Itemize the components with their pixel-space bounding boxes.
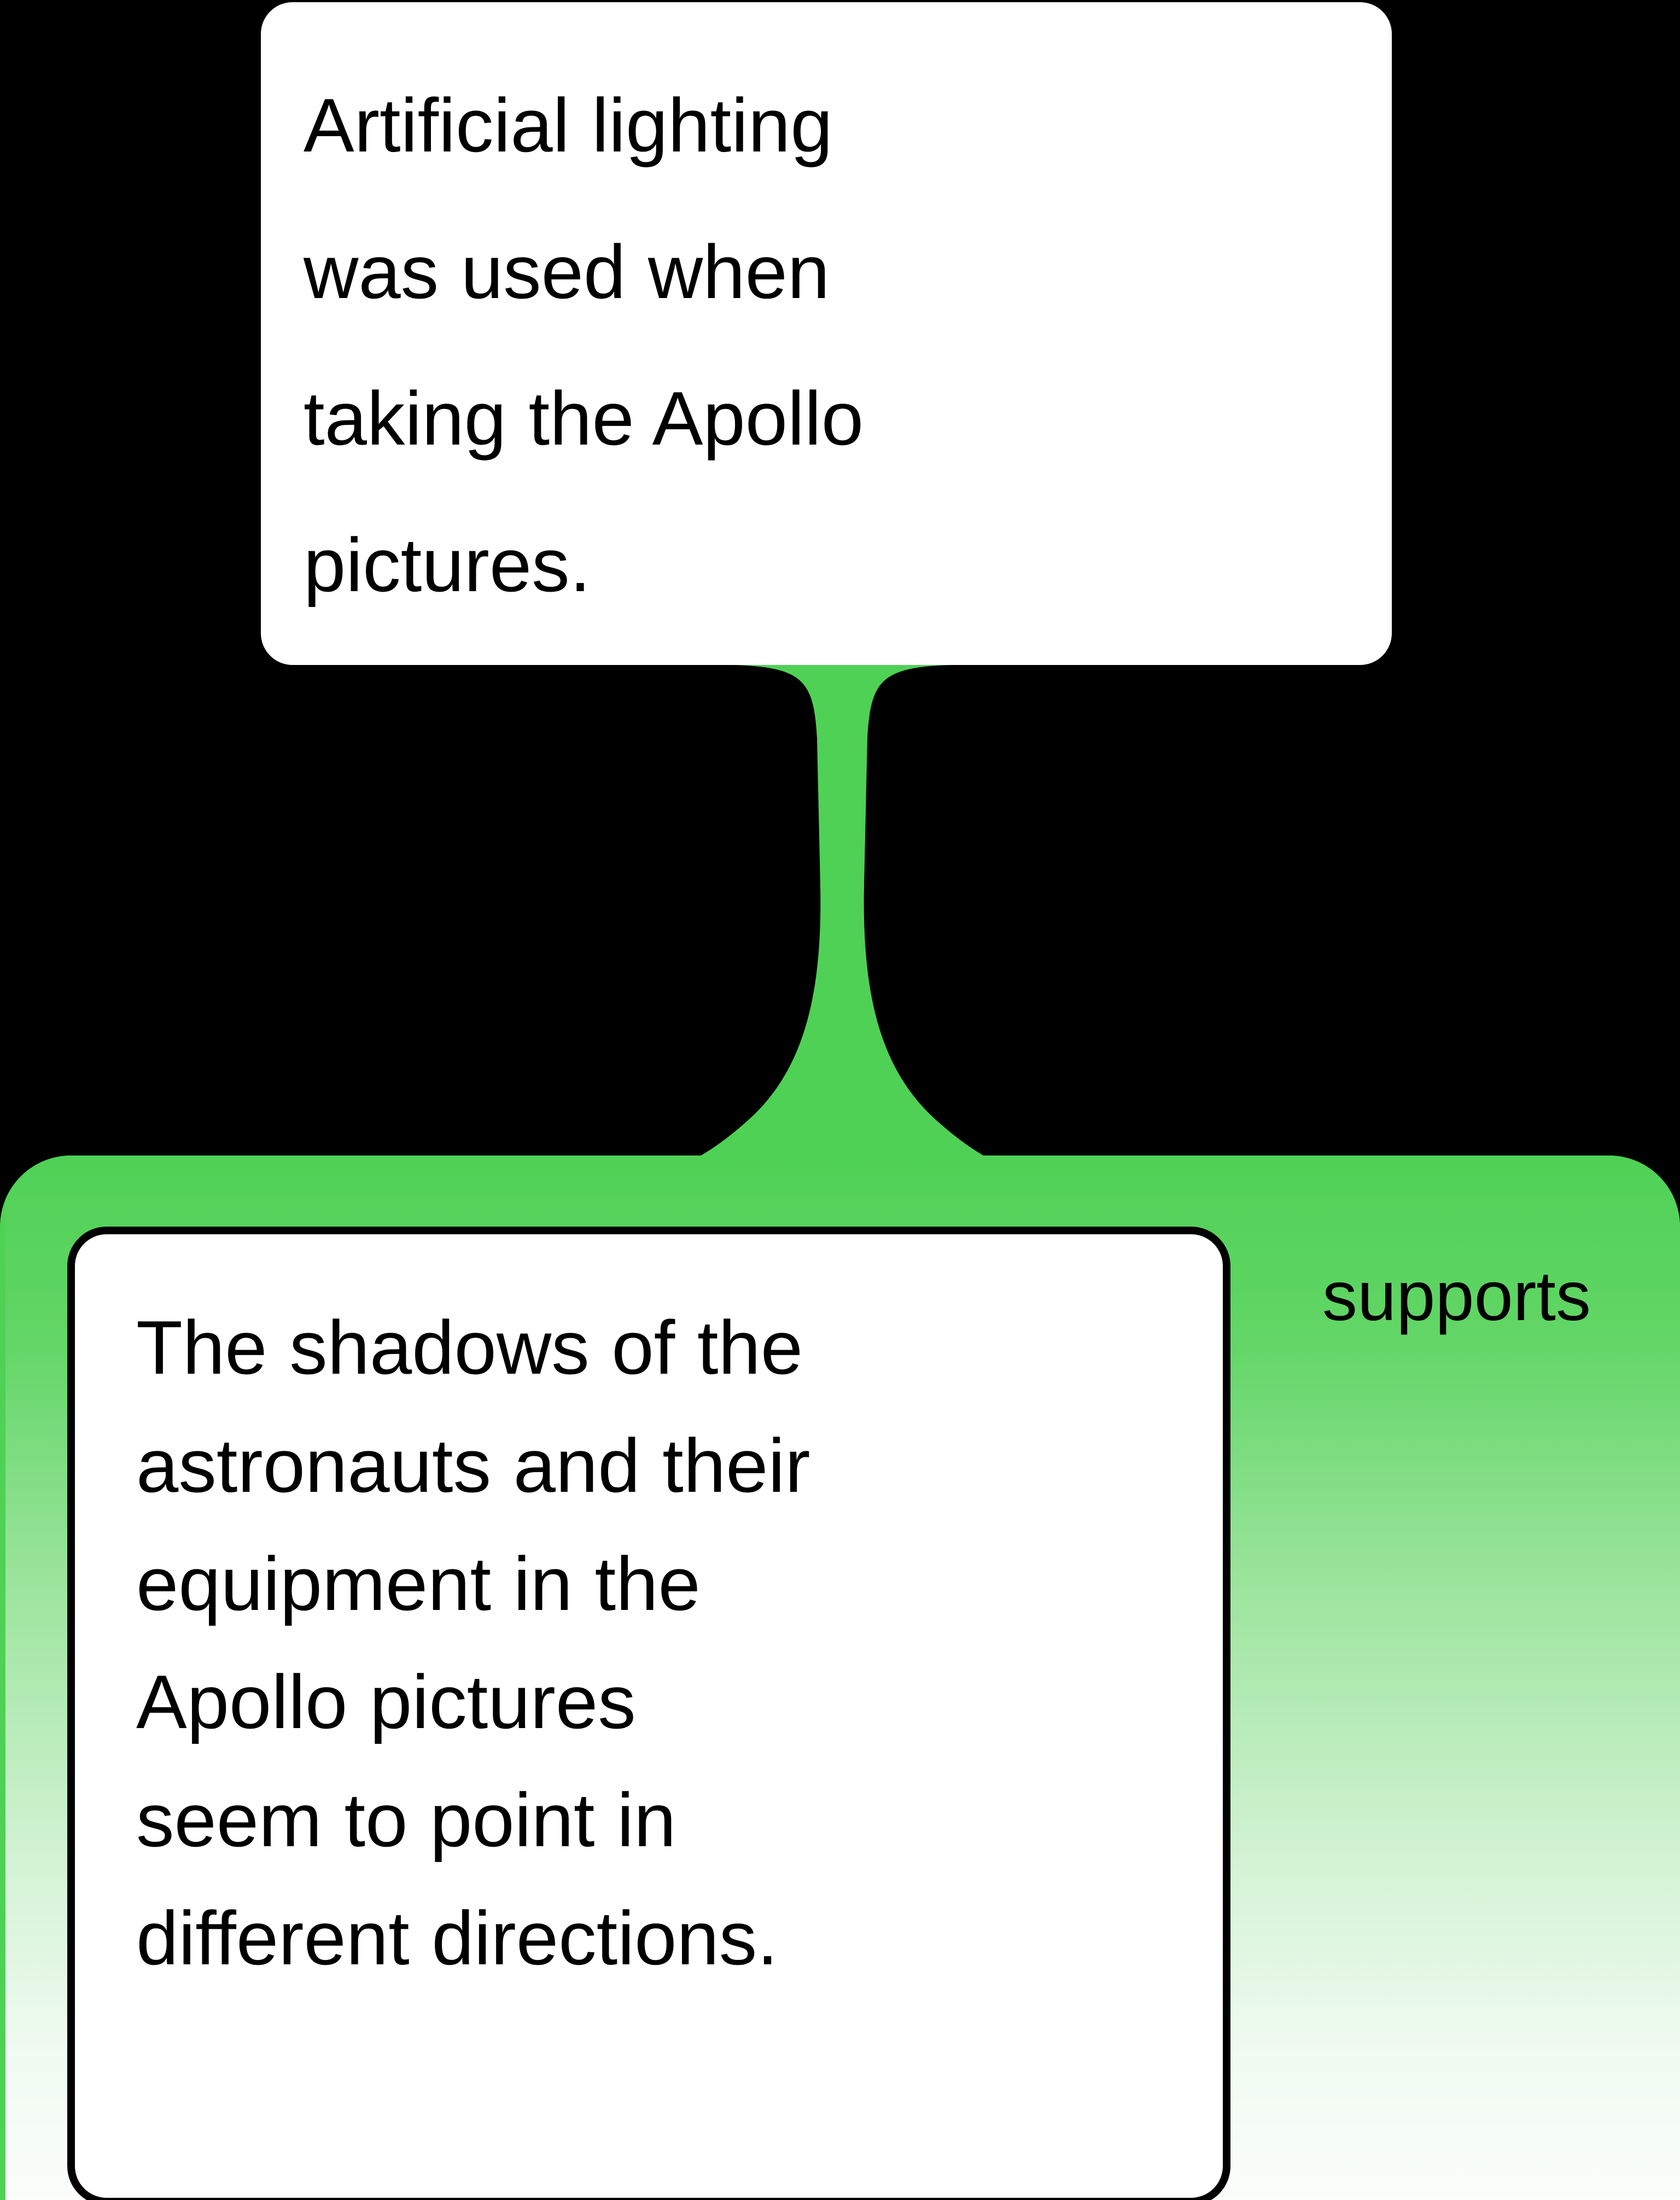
reason-node-line-1: The shadows of the: [136, 1289, 1195, 1407]
reason-node-line-3: equipment in the: [136, 1525, 1195, 1643]
reason-node[interactable]: The shadows of the astronauts and their …: [67, 1227, 1230, 2200]
reason-node-line-6: different directions.: [136, 1880, 1195, 1998]
reason-node-line-2: astronauts and their: [136, 1407, 1195, 1525]
supports-connector-icon: [700, 656, 984, 1165]
supports-relation-label: supports: [1322, 1258, 1591, 1335]
argument-map-canvas: Artificial lighting was used when taking…: [0, 0, 1680, 2200]
claim-node-line-2: was used when: [304, 199, 1359, 346]
claim-node[interactable]: Artificial lighting was used when taking…: [261, 2, 1392, 665]
claim-node-line-1: Artificial lighting: [304, 52, 1359, 199]
claim-node-line-4: pictures.: [304, 492, 1359, 639]
reason-node-line-4: Apollo pictures: [136, 1643, 1195, 1761]
claim-node-line-3: taking the Apollo: [304, 346, 1359, 492]
reason-node-line-5: seem to point in: [136, 1761, 1195, 1880]
